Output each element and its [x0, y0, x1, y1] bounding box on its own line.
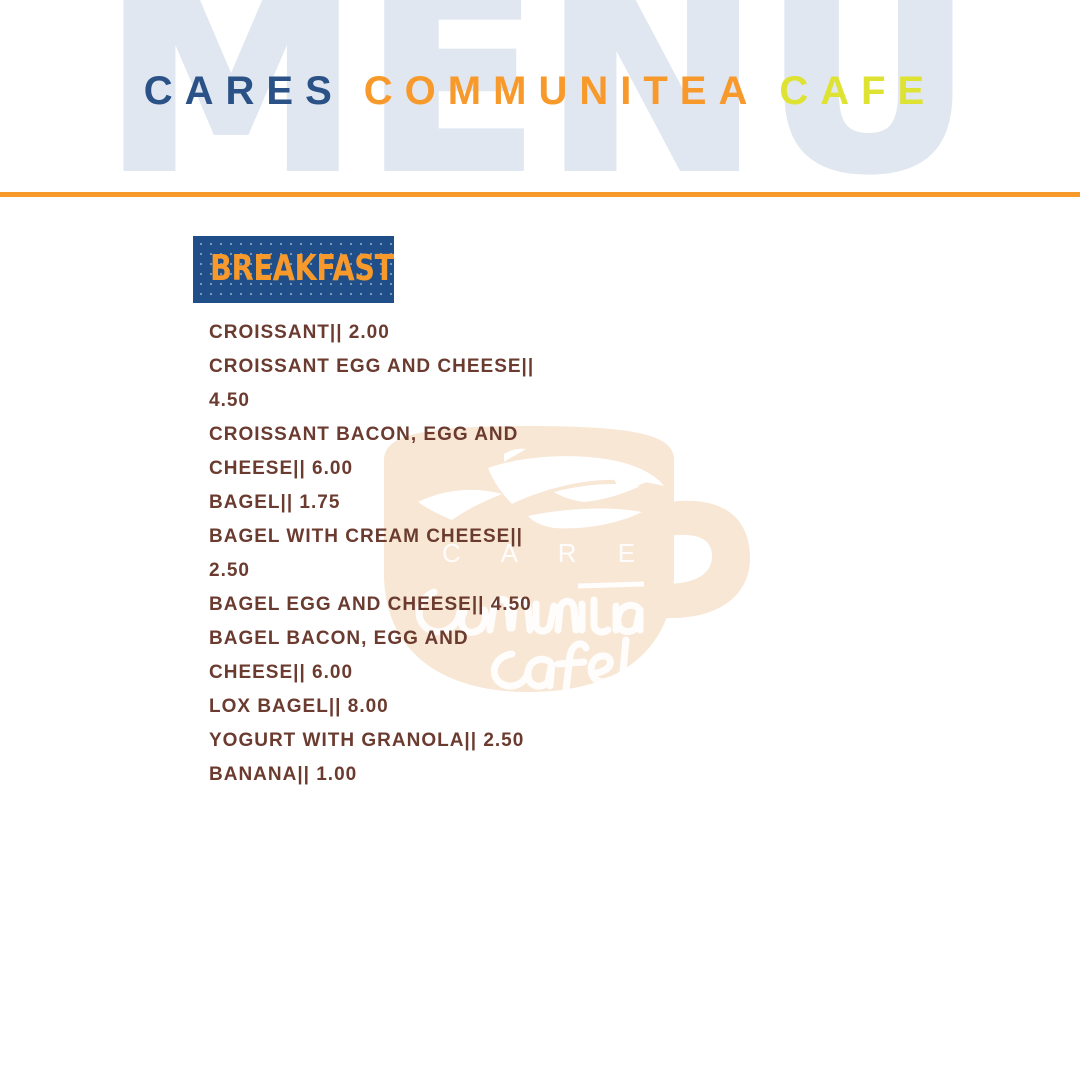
- list-item: BAGEL|| 1.75: [209, 486, 554, 520]
- page-title: CARESCOMMUNITEACAFE: [0, 68, 1080, 114]
- section-heading-label: BREAKFAST: [210, 249, 394, 289]
- page-header: MENU CARESCOMMUNITEACAFE: [0, 0, 1080, 197]
- section-heading-breakfast: BREAKFAST: [193, 236, 394, 303]
- list-item: BANANA|| 1.00: [209, 758, 554, 792]
- header-divider-rule: [0, 192, 1080, 197]
- list-item: BAGEL WITH CREAM CHEESE|| 2.50: [209, 520, 554, 588]
- list-item: BAGEL BACON, EGG AND CHEESE|| 6.00: [209, 622, 554, 690]
- list-item: LOX BAGEL|| 8.00: [209, 690, 554, 724]
- brand-word-cares: CARES: [144, 69, 344, 113]
- brand-word-cafe: CAFE: [779, 69, 936, 113]
- menu-section-breakfast: BREAKFAST CROISSANT|| 2.00 CROISSANT EGG…: [193, 236, 394, 303]
- list-item: CROISSANT BACON, EGG AND CHEESE|| 6.00: [209, 418, 554, 486]
- list-item: BAGEL EGG AND CHEESE|| 4.50: [209, 588, 554, 622]
- breakfast-item-list: CROISSANT|| 2.00 CROISSANT EGG AND CHEES…: [209, 316, 829, 792]
- brand-word-communitea: COMMUNITEA: [364, 69, 760, 113]
- list-item: CROISSANT|| 2.00: [209, 316, 554, 350]
- menu-page: MENU CARESCOMMUNITEACAFE C A R E S: [0, 0, 1080, 1080]
- list-item: CROISSANT EGG AND CHEESE|| 4.50: [209, 350, 554, 418]
- list-item: YOGURT WITH GRANOLA|| 2.50: [209, 724, 554, 758]
